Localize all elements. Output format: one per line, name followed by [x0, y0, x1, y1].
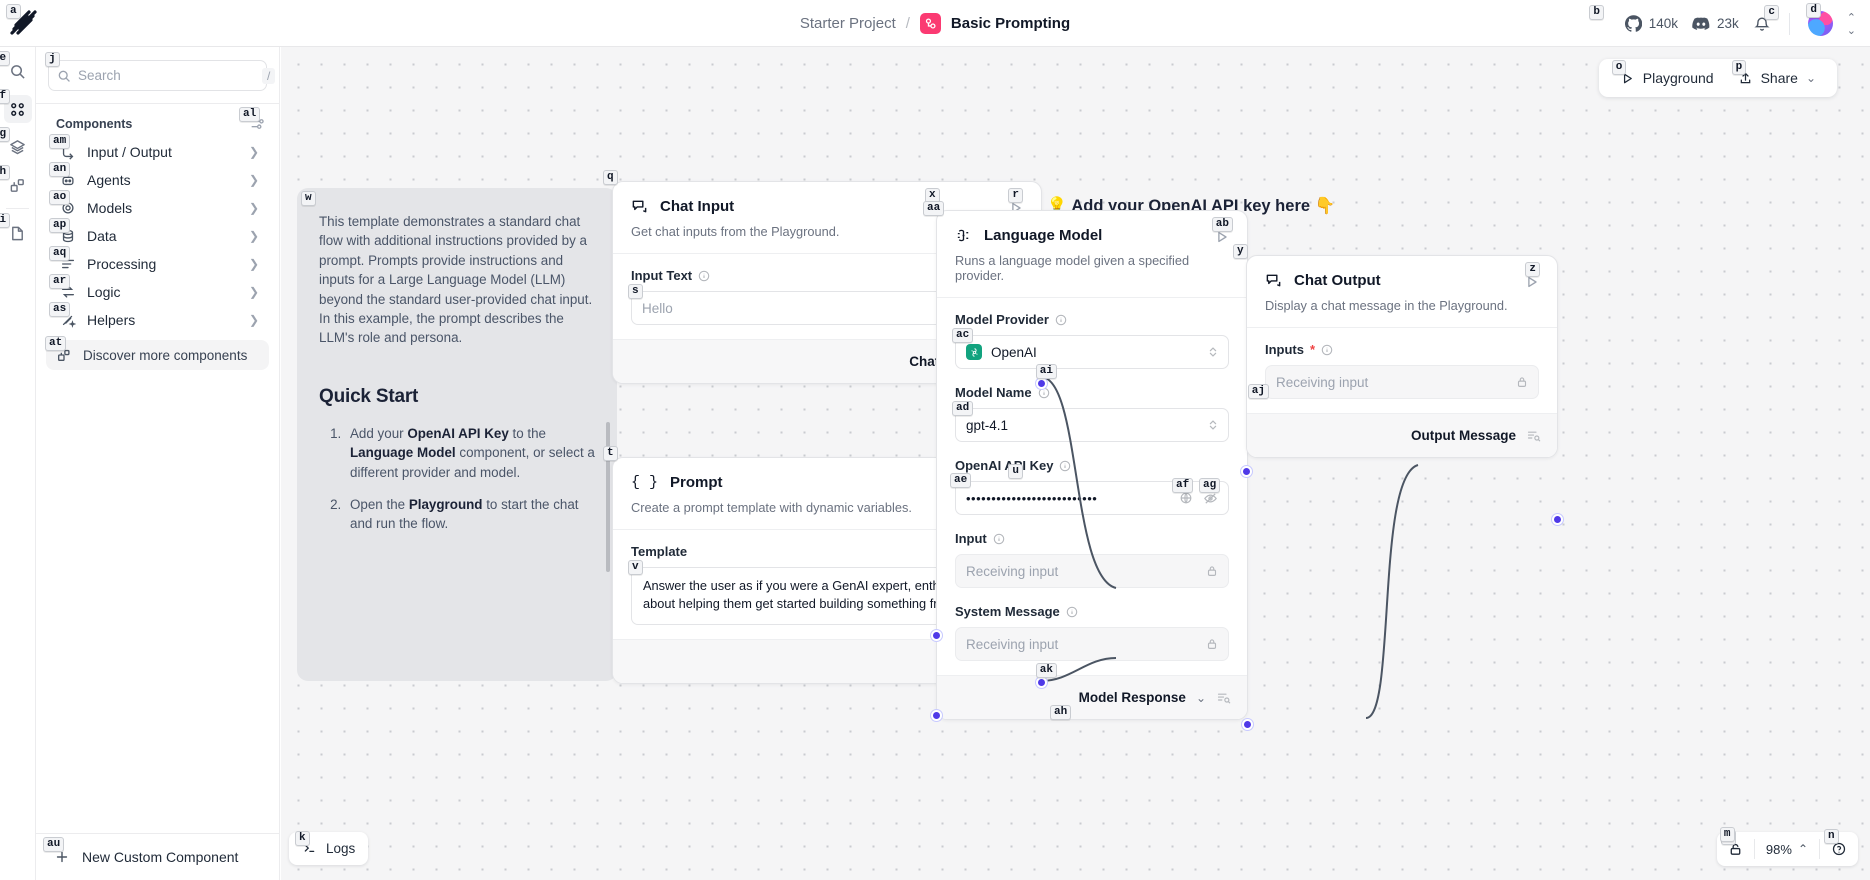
model-provider-select[interactable]: OpenAI ac — [955, 335, 1229, 369]
input-output-icon: am — [60, 144, 76, 160]
sidebar-item-label: Processing — [87, 256, 238, 272]
play-icon: o — [1620, 71, 1635, 86]
note-scrollbar[interactable] — [606, 422, 610, 572]
field-label-row: Input — [955, 531, 1229, 546]
badge-aj: aj — [1248, 384, 1269, 399]
top-bar: a Starter Project / Basic Prompting 140k… — [0, 0, 1870, 47]
note-paragraph: This template demonstrates a standard ch… — [319, 212, 595, 348]
chevron-right-icon: ❯ — [249, 313, 259, 327]
openai-api-key-input[interactable]: •••••••••••••••••••••••••• af ag ae — [955, 481, 1229, 515]
field-label: OpenAI API Key — [955, 458, 1053, 473]
input-handle-system-message[interactable] — [931, 710, 942, 721]
info-icon[interactable] — [1055, 314, 1067, 326]
rail-components-icon[interactable]: h — [4, 171, 32, 199]
zoom-bar: l 98% ⌃ m n — [1717, 832, 1858, 866]
inputs-receiving-field: Receiving input — [1265, 365, 1539, 399]
badge-ae: ae — [950, 473, 971, 488]
sidebar-item-label: Helpers — [87, 312, 238, 328]
field-label-row: Inputs * — [1265, 342, 1539, 357]
badge-m: m — [1720, 827, 1735, 842]
badge-g: g — [0, 127, 10, 142]
langflow-app: a Starter Project / Basic Prompting 140k… — [0, 0, 1870, 880]
inputs-placeholder: Receiving input — [1276, 375, 1368, 390]
node-language-model[interactable]: Language Model Runs a language model giv… — [936, 210, 1248, 720]
chevron-right-icon: ❯ — [249, 285, 259, 299]
sidebar-item-label: Input / Output — [87, 144, 238, 160]
node-title: Prompt — [670, 474, 723, 491]
node-title: Language Model — [984, 227, 1102, 244]
helpers-wand-icon: as — [60, 312, 76, 328]
badge-k: k — [295, 831, 310, 846]
badge-i: i — [0, 213, 10, 228]
sidebar-item-label: Logic — [87, 284, 238, 300]
badge-p: p — [1732, 60, 1747, 75]
input-text-value: Hello — [642, 301, 673, 316]
badge-ab: ab — [1212, 217, 1233, 232]
node-title-row: Language Model — [955, 227, 1229, 244]
badge-at: at — [45, 336, 66, 351]
output-label: Output Message — [1411, 428, 1516, 443]
search-section: / j — [36, 47, 279, 104]
database-icon: ap — [60, 228, 76, 244]
badge-al: al — [239, 107, 260, 122]
field-input: Input Receiving input — [955, 531, 1229, 588]
chat-input-icon — [631, 198, 648, 215]
chevron-down-icon: ⌄ — [1806, 71, 1816, 85]
field-model-name: Model Name aj gpt-4.1 ad — [955, 385, 1229, 442]
lock-icon — [1205, 564, 1219, 578]
model-name-value: gpt-4.1 — [966, 418, 1008, 433]
node-title: Chat Input — [660, 198, 734, 215]
badge-af: af — [1172, 478, 1193, 493]
left-rail: e f g h i — [0, 47, 36, 880]
info-icon[interactable] — [1066, 606, 1078, 618]
github-stat[interactable]: 140k — [1625, 15, 1678, 32]
terminal-icon: k — [302, 841, 317, 856]
badge-ak: ak — [1036, 663, 1057, 678]
rail-file-icon[interactable]: i — [4, 219, 32, 247]
top-bar-right: 140k b 23k c d ⌃⌄ — [1625, 0, 1856, 47]
field-system-message: System Message Receiving input — [955, 604, 1229, 661]
rail-search-icon[interactable]: e — [4, 57, 32, 85]
logs-button[interactable]: k Logs — [289, 832, 368, 865]
components-header: Components al — [36, 104, 279, 138]
share-button[interactable]: p Share ⌄ — [1729, 65, 1825, 91]
badge-c: c — [1764, 5, 1779, 20]
help-circle-icon: n — [1831, 841, 1847, 857]
info-icon[interactable] — [1059, 460, 1071, 472]
badge-r: r — [1008, 188, 1023, 203]
discover-label: Discover more components — [83, 348, 247, 363]
globe-icon[interactable]: af — [1179, 491, 1193, 505]
output-handle-prompt[interactable] — [1036, 677, 1047, 688]
node-chat-output[interactable]: Chat Output Display a chat message in th… — [1246, 255, 1558, 458]
github-count: 140k — [1649, 16, 1678, 31]
badge-u: u — [1008, 464, 1023, 479]
chevron-updown-icon — [1207, 418, 1219, 432]
badge-ar: ar — [49, 274, 70, 289]
node-header: Chat Output — [1247, 256, 1557, 289]
sidebar-item-logic[interactable]: ar Logic ❯ — [42, 278, 273, 306]
chevron-right-icon: ❯ — [249, 145, 259, 159]
new-custom-component-label: New Custom Component — [82, 849, 238, 865]
system-placeholder: Receiving input — [966, 637, 1058, 652]
field-label-row: OpenAI API Key — [955, 458, 1229, 473]
badge-b: b — [1589, 5, 1604, 20]
flow-canvas[interactable]: o Playground p Share ⌄ This template dem… — [281, 47, 1870, 880]
badge-aq: aq — [49, 246, 70, 261]
chevron-right-icon: ❯ — [249, 201, 259, 215]
badge-au: au — [43, 837, 64, 852]
note-step: Open the Playground to start the chat an… — [345, 495, 595, 534]
sidebar-item-helpers[interactable]: as Helpers ❯ — [42, 306, 273, 334]
share-icon: p — [1738, 71, 1753, 86]
search-shortcut: / — [262, 68, 275, 84]
output-handle-chat-message[interactable] — [1036, 378, 1047, 389]
search-box[interactable]: / j — [48, 60, 267, 91]
discord-count: 23k — [1717, 16, 1739, 31]
note-heading: Quick Start — [319, 386, 595, 408]
processing-lines-icon: aq — [60, 256, 76, 272]
language-model-icon — [955, 227, 972, 244]
node-body: Model Provider OpenAI ac — [937, 297, 1247, 675]
rail-layers-icon[interactable]: g — [4, 133, 32, 161]
field-label-row: Model Provider — [955, 312, 1229, 327]
lock-icon — [1205, 637, 1219, 651]
note-card[interactable]: This template demonstrates a standard ch… — [297, 188, 617, 681]
field-label-row: Model Name aj — [955, 385, 1229, 400]
logic-arrows-icon: ar — [60, 284, 76, 300]
search-input[interactable] — [78, 68, 255, 83]
field-model-provider: Model Provider OpenAI ac — [955, 312, 1229, 369]
node-title-row: Chat Output — [1265, 272, 1539, 289]
divider — [1789, 13, 1790, 35]
node-title: Chat Output — [1294, 272, 1381, 289]
badge-q: q — [603, 170, 618, 185]
chevron-updown-icon — [1207, 345, 1219, 359]
breadcrumb-separator: / — [906, 15, 910, 32]
field-label: Input Text — [631, 268, 692, 283]
sidebar-item-input-output[interactable]: am Input / Output ❯ — [42, 138, 273, 166]
sidebar-item-agents[interactable]: an Agents ❯ — [42, 166, 273, 194]
api-key-value: •••••••••••••••••••••••••• — [966, 491, 1097, 506]
badge-ap: ap — [49, 218, 70, 233]
page-title: Basic Prompting — [951, 15, 1070, 32]
required-asterisk: * — [1310, 342, 1315, 357]
search-icon — [57, 69, 71, 83]
badge-n: n — [1824, 829, 1839, 844]
output-label: Model Response — [1079, 690, 1186, 705]
badge-y: y — [1233, 244, 1248, 259]
badge-h: h — [0, 165, 10, 180]
playground-share-bar: o Playground p Share ⌄ — [1599, 59, 1837, 97]
field-label-row: System Message — [955, 604, 1229, 619]
node-header: Language Model — [937, 211, 1247, 244]
playground-label: Playground — [1643, 70, 1714, 86]
badge-ad: ad — [952, 401, 973, 416]
system-message-receiving-field: Receiving input — [955, 627, 1229, 661]
discord-icon — [1692, 17, 1710, 31]
zoom-level-label: 98% — [1766, 842, 1792, 857]
playground-button[interactable]: o Playground — [1611, 65, 1723, 91]
chevron-right-icon: ❯ — [249, 173, 259, 187]
info-icon[interactable] — [993, 533, 1005, 545]
discover-more-components-button[interactable]: at Discover more components — [46, 340, 269, 370]
field-label: Model Provider — [955, 312, 1049, 327]
info-icon[interactable] — [698, 270, 710, 282]
node-footer: Model Response ⌄ — [937, 675, 1247, 719]
field-label: Model Name — [955, 385, 1032, 400]
info-icon[interactable] — [1321, 344, 1333, 356]
node-description: Runs a language model given a specified … — [937, 244, 1247, 297]
model-gear-icon: ao — [60, 200, 76, 216]
note-steps: Add your OpenAI API Key to the Language … — [345, 424, 595, 534]
output-handle-output-message[interactable] — [1552, 514, 1563, 525]
badge-o: o — [1612, 60, 1627, 75]
note-step: Add your OpenAI API Key to the Language … — [345, 424, 595, 482]
chevron-right-icon: ❯ — [249, 229, 259, 243]
sidebar-item-data[interactable]: ap Data ❯ — [42, 222, 273, 250]
field-label: Input — [955, 531, 987, 546]
field-label: Inputs — [1265, 342, 1304, 357]
chat-output-icon — [1265, 272, 1282, 289]
puzzle-icon: at — [56, 347, 72, 363]
badge-t: t — [603, 446, 618, 461]
input-handle-input[interactable] — [931, 630, 942, 641]
lock-icon — [1515, 375, 1529, 389]
badge-v: v — [628, 560, 643, 575]
output-list-icon[interactable] — [1216, 690, 1231, 705]
model-provider-value: OpenAI — [991, 345, 1037, 360]
breadcrumb-project[interactable]: Starter Project — [800, 15, 896, 32]
discord-stat[interactable]: 23k — [1692, 16, 1739, 31]
badge-ag: ag — [1199, 478, 1220, 493]
logs-label: Logs — [326, 841, 355, 856]
badge-f: f — [0, 89, 10, 104]
badge-w: w — [301, 191, 316, 206]
plus-icon: au — [54, 849, 70, 865]
sidebar-item-label: Agents — [87, 172, 238, 188]
badge-as: as — [49, 302, 70, 317]
badge-z: z — [1525, 262, 1540, 277]
badge-e: e — [0, 51, 10, 66]
sidebar-item-label: Data — [87, 228, 238, 244]
chevron-down-icon[interactable]: ⌄ — [1196, 691, 1206, 705]
share-label: Share — [1761, 70, 1798, 86]
badge-an: an — [49, 162, 70, 177]
github-icon — [1625, 15, 1642, 32]
new-custom-component-button[interactable]: au New Custom Component — [36, 833, 279, 880]
chevron-updown-icon[interactable]: ⌃⌄ — [1847, 11, 1856, 37]
sliders-icon[interactable]: al — [249, 116, 265, 132]
output-handle-model-response[interactable] — [1242, 719, 1253, 730]
field-openai-api-key: OpenAI API Key •••••••••••••••••••••••••… — [955, 458, 1229, 515]
node-description: Display a chat message in the Playground… — [1247, 289, 1557, 327]
braces-icon: { } — [631, 474, 658, 491]
eye-off-icon[interactable]: ag — [1203, 491, 1218, 506]
node-body: Inputs * Receiving input — [1247, 327, 1557, 413]
sidebar-item-processing[interactable]: aq Processing ❯ — [42, 250, 273, 278]
input-handle-inputs[interactable] — [1241, 466, 1252, 477]
rail-flow-nodes-icon[interactable]: f — [4, 95, 32, 123]
chevron-right-icon: ❯ — [249, 257, 259, 271]
help-button[interactable]: n — [1820, 832, 1858, 866]
field-label: System Message — [955, 604, 1060, 619]
components-sidebar: / j Components al am Input / Output ❯ an — [36, 47, 280, 880]
sidebar-item-models[interactable]: ao Models ❯ — [42, 194, 273, 222]
badge-am: am — [49, 134, 70, 149]
openai-green-icon — [966, 344, 982, 360]
badge-aa: aa — [923, 201, 944, 216]
input-placeholder: Receiving input — [966, 564, 1058, 579]
badge-d: d — [1806, 3, 1821, 18]
sidebar-item-label: Models — [87, 200, 238, 216]
field-label: Template — [631, 544, 687, 559]
flow-pink-icon — [920, 13, 941, 34]
zoom-level-button[interactable]: 98% ⌃ m — [1755, 832, 1819, 866]
badge-ai: ai — [1036, 364, 1057, 379]
badge-ah: ah — [1050, 705, 1071, 720]
rail-divider — [6, 208, 29, 209]
badge-ac: ac — [952, 328, 973, 343]
badge-s: s — [628, 284, 643, 299]
components-label: Components — [56, 117, 132, 131]
badge-j: j — [45, 52, 60, 67]
output-list-icon[interactable] — [1526, 428, 1541, 443]
chevron-up-icon: ⌃ — [1798, 842, 1808, 856]
unlock-icon: l — [1728, 842, 1743, 857]
node-footer: Output Message — [1247, 413, 1557, 457]
badge-ao: ao — [49, 190, 70, 205]
model-name-select[interactable]: gpt-4.1 ad — [955, 408, 1229, 442]
badge-a: a — [6, 4, 21, 19]
input-receiving-field: Receiving input — [955, 554, 1229, 588]
agent-bot-icon: an — [60, 172, 76, 188]
